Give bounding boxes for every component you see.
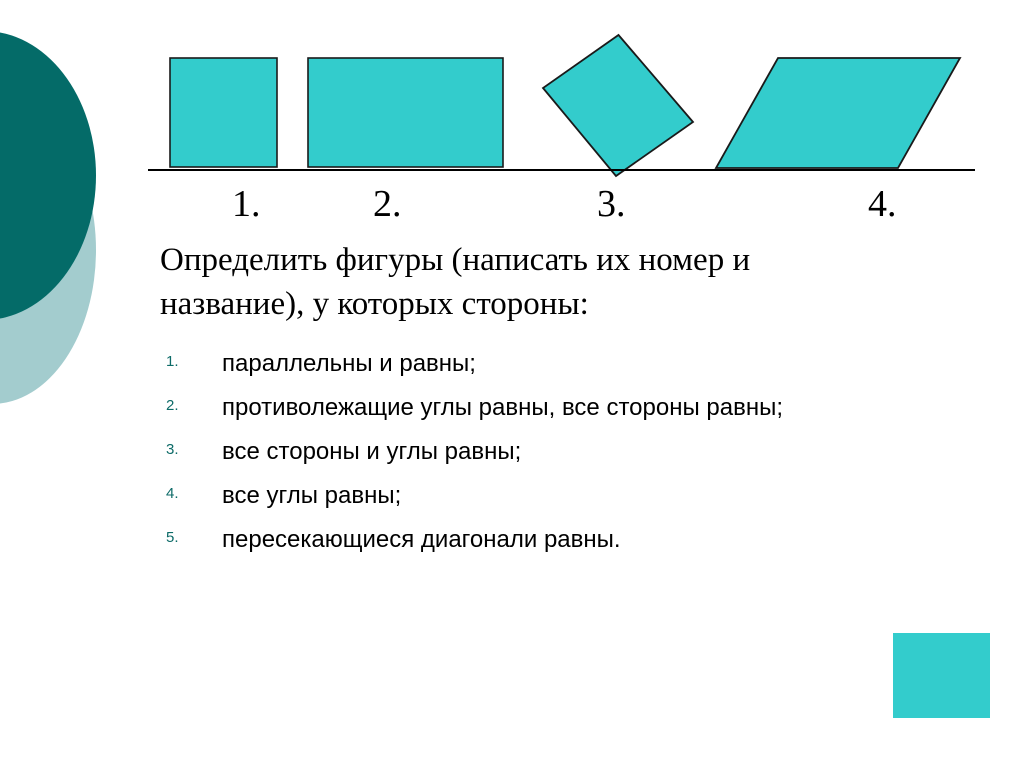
list-item: 3. все стороны и углы равны;	[160, 436, 840, 468]
figure-label-4: 4.	[868, 185, 897, 223]
figure-label-3: 3.	[597, 185, 626, 223]
figure-row: 1. 2. 3. 4.	[0, 0, 1024, 230]
question-prompt: Определить фигуры (написать их номер и н…	[160, 238, 800, 326]
question-prompt-line-1: Определить фигуры (написать их номер и	[160, 242, 750, 278]
list-item: 2. противолежащие углы равны, все сторон…	[160, 392, 840, 424]
criteria-list: 1. параллельны и равны; 2. противолежащи…	[160, 348, 840, 568]
list-item-text: пересекающиеся диагонали равны.	[222, 526, 621, 553]
list-item-text: параллельны и равны;	[222, 350, 476, 377]
list-item-marker: 5.	[166, 528, 179, 548]
list-item: 4. все углы равны;	[160, 480, 840, 512]
figure-label-2: 2.	[373, 185, 402, 223]
list-item-marker: 1.	[166, 352, 179, 372]
list-item-text: все стороны и углы равны;	[222, 438, 521, 465]
figure-shape-square	[169, 57, 279, 169]
figure-shape-rectangle	[307, 57, 505, 169]
list-item-marker: 4.	[166, 484, 179, 504]
figure-label-1: 1.	[232, 185, 261, 223]
figure-shape-parallelogram	[714, 54, 964, 172]
list-item-marker: 2.	[166, 396, 179, 416]
question-prompt-line-2: название), у которых стороны:	[160, 286, 589, 322]
figure-shape-rhombus	[541, 33, 695, 178]
list-item: 5. пересекающиеся диагонали равны.	[160, 524, 840, 556]
corner-accent-square	[893, 633, 990, 718]
list-item-marker: 3.	[166, 440, 179, 460]
list-item: 1. параллельны и равны;	[160, 348, 840, 380]
figure-baseline	[148, 169, 975, 171]
slide-canvas: 1. 2. 3. 4. Определить фигуры (написать …	[0, 0, 1024, 767]
list-item-text: все углы равны;	[222, 482, 401, 509]
list-item-text: противолежащие углы равны, все стороны р…	[222, 394, 783, 421]
